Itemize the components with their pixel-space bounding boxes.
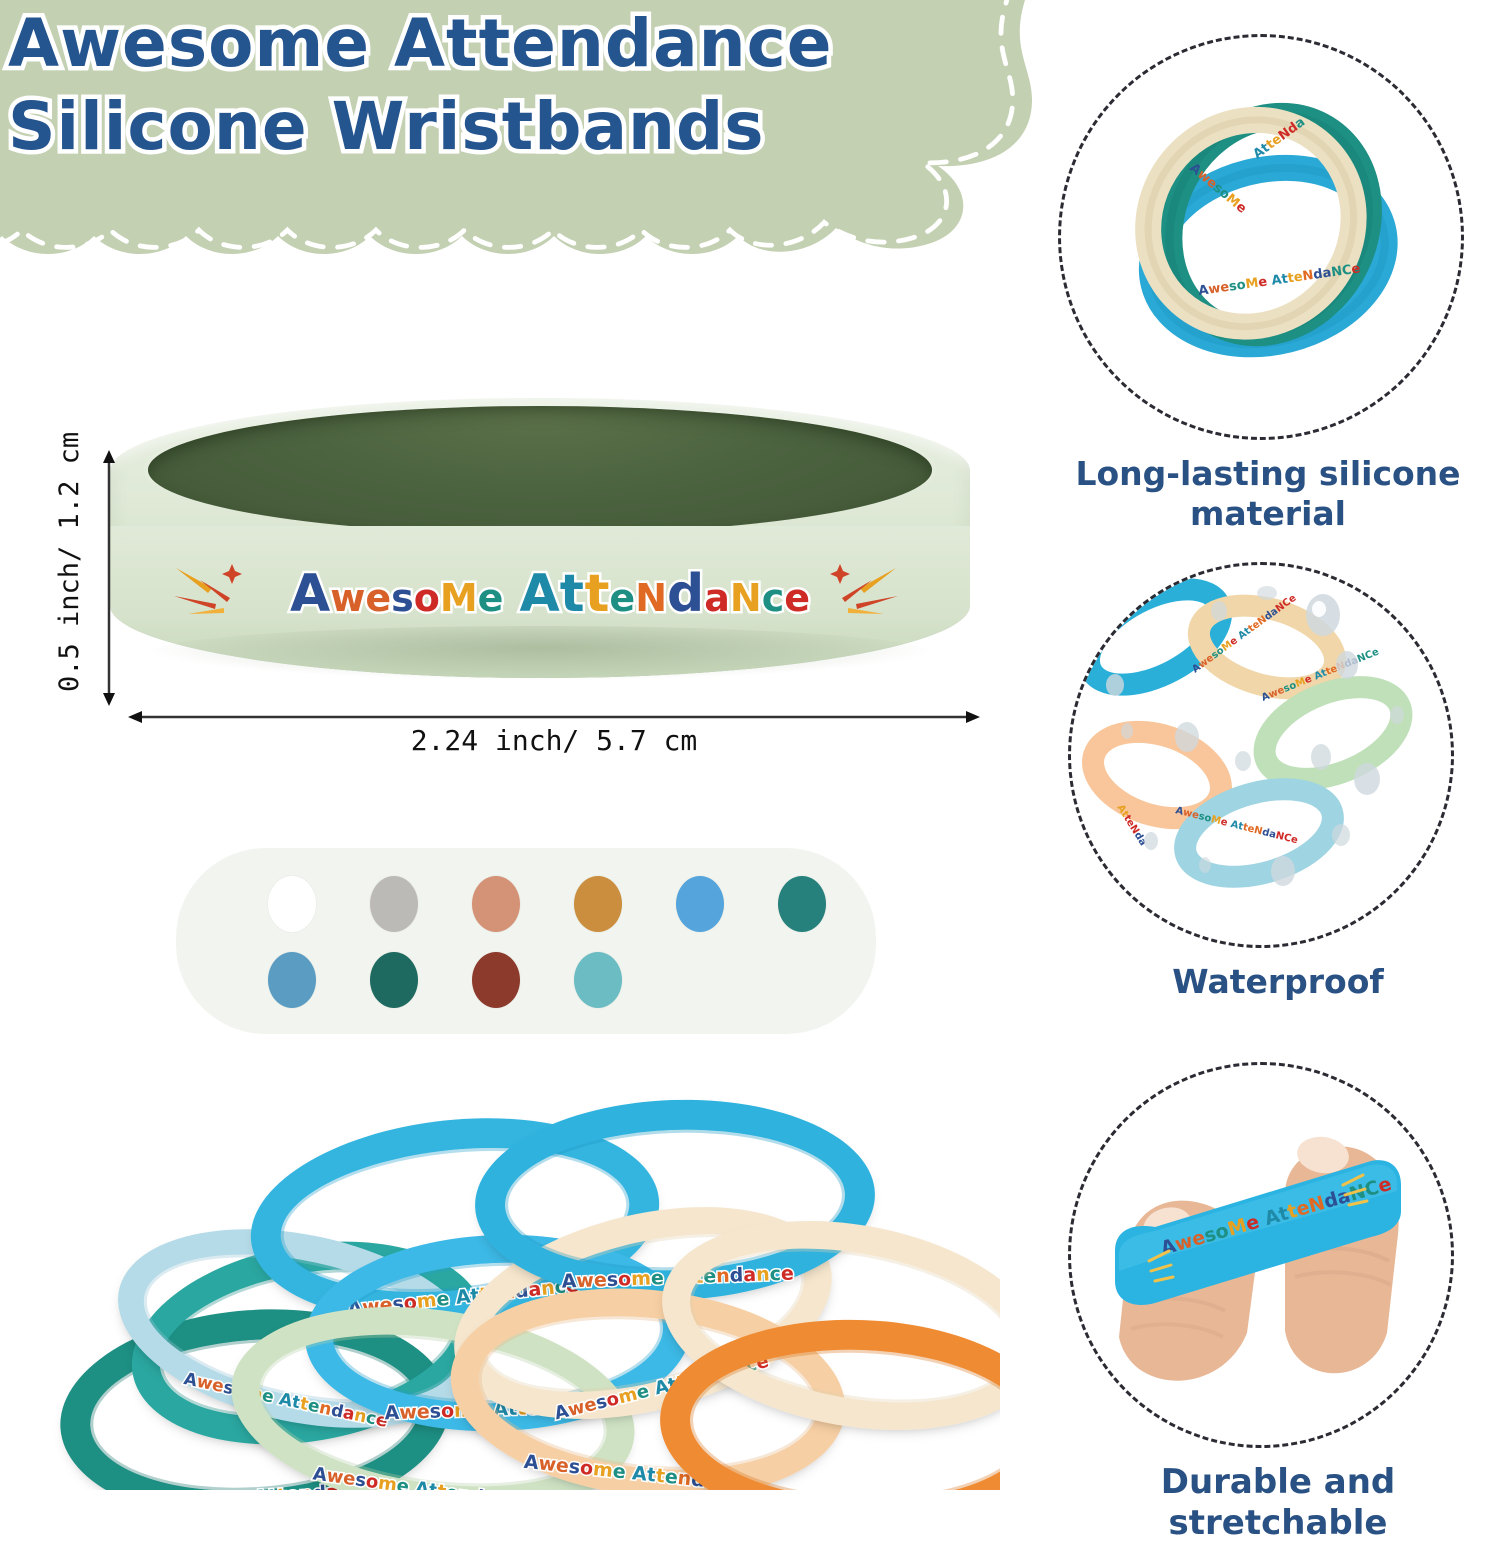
- logo-awesome-letter-5: M: [440, 579, 478, 617]
- color-swatch-white[interactable]: [268, 876, 316, 932]
- main-product-photo: AwesoMe AtteNdaNce: [110, 398, 970, 698]
- color-swatch-warm-gray[interactable]: [370, 876, 418, 932]
- waterproof-bands-illustration: e AtteNdaNCe AwesoMe AtteNdaNCe AwesoMe …: [1071, 565, 1451, 945]
- logo-word-awesome: AwesoMe: [290, 568, 503, 620]
- page-title: Awesome Attendance Silicone Wristbands: [8, 2, 1008, 168]
- logo-attendance-letter-9: e: [784, 579, 810, 617]
- logo-attendance-letter-2: t: [585, 568, 610, 620]
- logo-attendance-letter-3: e: [609, 579, 635, 617]
- logo-attendance-letter-6: a: [704, 579, 730, 617]
- feature-durable-stretchable: AwesoMe AtteNdaNCe Durable and stretchab…: [1068, 1062, 1488, 1545]
- color-swatch-row-2: [176, 952, 968, 1008]
- feature-photo-waterproof: e AtteNdaNCe AwesoMe AtteNdaNCe AwesoMe …: [1068, 562, 1454, 948]
- pile-wristband-label: Awesome Attendance: [687, 1344, 1000, 1490]
- wristband-logo: AwesoMe AtteNdaNce: [260, 558, 840, 630]
- logo-awesome-letter-2: e: [365, 579, 391, 617]
- interlocked-bands-illustration: AwesoMe AwesoMe AtteNdaNCe AtteNda: [1061, 37, 1461, 437]
- color-swatch-panel: [176, 848, 876, 1034]
- color-swatch-ochre-gold[interactable]: [574, 876, 622, 932]
- feature-photo-silicone: AwesoMe AwesoMe AtteNdaNCe AtteNda: [1058, 34, 1464, 440]
- color-swatch-brick-red[interactable]: [472, 952, 520, 1008]
- feature-caption-silicone: Long-lasting silicone material: [1058, 454, 1478, 535]
- dimension-height-label: 0.5 inch/ 1.2 cm: [36, 120, 67, 420]
- logo-awesome-letter-3: s: [391, 579, 414, 617]
- feature-long-lasting-silicone: AwesoMe AwesoMe AtteNdaNCe AtteNda Long-…: [1058, 34, 1478, 535]
- color-swatch-sky-blue[interactable]: [676, 876, 724, 932]
- hand-stretching-band-illustration: AwesoMe AtteNdaNCe: [1071, 1065, 1451, 1445]
- starburst-left-icon: [172, 556, 246, 630]
- dimension-height-arrow: [96, 450, 122, 706]
- color-swatch-deep-teal[interactable]: [778, 876, 826, 932]
- logo-attendance-letter-4: N: [635, 579, 667, 617]
- color-swatch-steel-blue[interactable]: [268, 952, 316, 1008]
- feature-caption-stretch: Durable and stretchable: [1058, 1462, 1498, 1545]
- logo-attendance-letter-8: c: [762, 579, 785, 617]
- color-swatch-row-1: [176, 876, 968, 932]
- logo-attendance-letter-1: t: [560, 568, 585, 620]
- logo-awesome-letter-6: e: [478, 579, 504, 617]
- color-swatch-aqua[interactable]: [574, 952, 622, 1008]
- feature-photo-stretch: AwesoMe AtteNdaNCe: [1068, 1062, 1454, 1448]
- logo-attendance-letter-7: N: [730, 579, 762, 617]
- header-banner: Awesome Attendance Silicone Wristbands: [0, 0, 1080, 290]
- wristband-interior: [148, 406, 932, 534]
- page-title-line-1: Awesome Attendance: [8, 2, 1008, 85]
- wristband-pile-photo: Awesome AttendanceAwesome AttendanceAwes…: [20, 1095, 1000, 1490]
- feature-caption-waterproof: Waterproof: [1068, 962, 1488, 1002]
- logo-awesome-letter-1: w: [330, 579, 365, 617]
- feature-waterproof: e AtteNdaNCe AwesoMe AtteNdaNCe AwesoMe …: [1068, 562, 1488, 1002]
- logo-word-attendance: AtteNdaNce: [519, 568, 810, 620]
- color-swatch-pine-teal[interactable]: [370, 952, 418, 1008]
- logo-attendance-letter-5: d: [667, 568, 704, 620]
- logo-awesome-letter-4: o: [414, 579, 440, 617]
- dimension-width-label: 2.24 inch/ 5.7 cm: [128, 724, 980, 757]
- color-swatch-salmon[interactable]: [472, 876, 520, 932]
- product-infographic: Awesome Attendance Silicone Wristbands: [0, 0, 1500, 1490]
- logo-attendance-letter-0: A: [519, 568, 559, 620]
- logo-awesome-letter-0: A: [290, 568, 330, 620]
- page-title-line-2: Silicone Wristbands: [8, 85, 1008, 168]
